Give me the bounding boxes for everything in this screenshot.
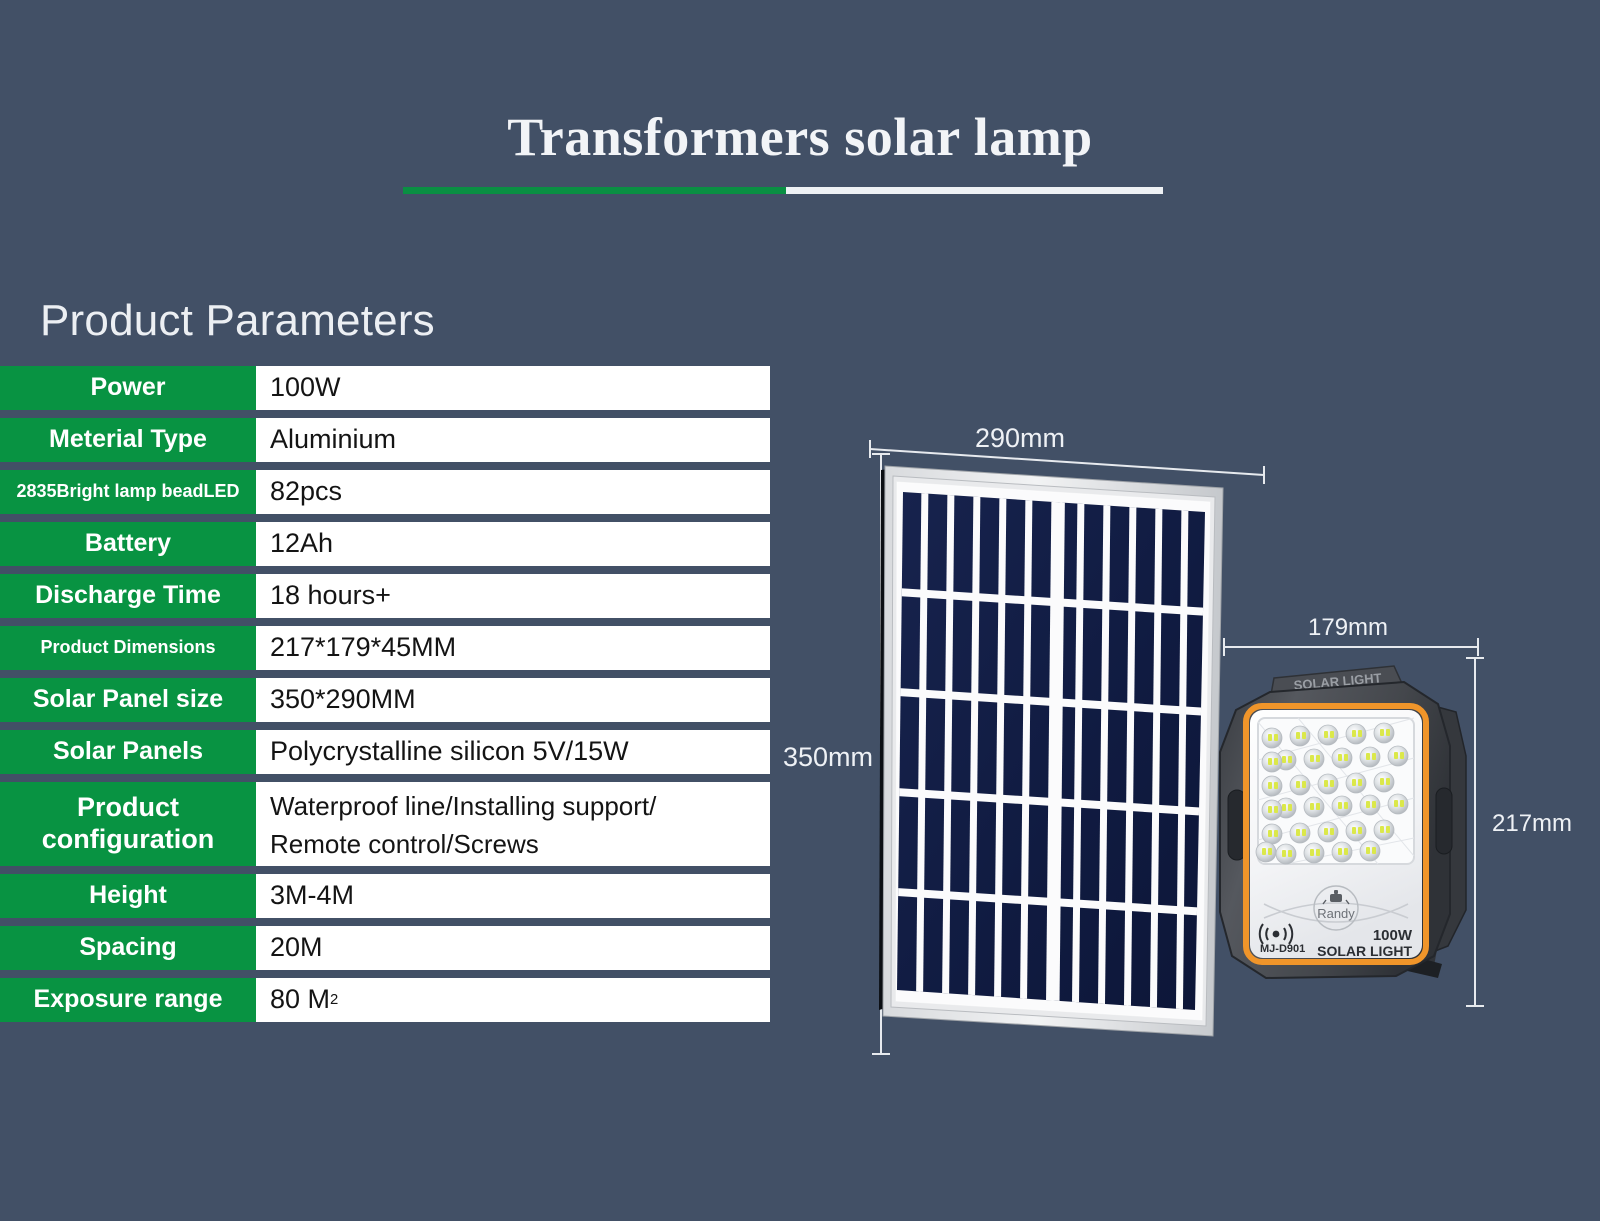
solar-panel-illustration [875, 450, 1235, 1070]
param-label: 2835Bright lamp beadLED [0, 470, 256, 514]
section-heading: Product Parameters [40, 296, 435, 346]
param-label: Discharge Time [0, 574, 256, 618]
param-label: Power [0, 366, 256, 410]
param-value: Aluminium [256, 418, 770, 462]
param-value: 350*290MM [256, 678, 770, 722]
param-value-number: 80 M [270, 984, 330, 1015]
param-value: Polycrystalline silicon 5V/15W [256, 730, 770, 774]
param-value: 12Ah [256, 522, 770, 566]
param-value-line1: Waterproof line/Installing support/ [270, 787, 770, 825]
table-row: Exposure range 80 M2 [0, 978, 770, 1022]
param-label: Spacing [0, 926, 256, 970]
floodlight-illustration: SOLAR LIGHT [1198, 660, 1488, 1000]
param-label: Solar Panel size [0, 678, 256, 722]
title-underline-green [403, 187, 786, 194]
param-label: Exposure range [0, 978, 256, 1022]
table-row: Power 100W [0, 366, 770, 410]
param-value: 3M-4M [256, 874, 770, 918]
param-label: Product Dimensions [0, 626, 256, 670]
table-row: Spacing 20M [0, 926, 770, 970]
product-spec-page: Transformers solar lamp Product Paramete… [0, 0, 1600, 1221]
solar-panel-height-label: 350mm [783, 742, 873, 773]
param-value: 217*179*45MM [256, 626, 770, 670]
lamp-product-text: SOLAR LIGHT [1317, 943, 1412, 959]
param-label: Battery [0, 522, 256, 566]
table-row: 2835Bright lamp beadLED 82pcs [0, 470, 770, 514]
param-value: Waterproof line/Installing support/ Remo… [256, 782, 770, 866]
param-value: 80 M2 [256, 978, 770, 1022]
lamp-width-label: 179mm [1308, 614, 1388, 642]
param-value: 100W [256, 366, 770, 410]
product-parameters-table: Power 100W Meterial Type Aluminium 2835B… [0, 366, 770, 1030]
table-row: Solar Panel size 350*290MM [0, 678, 770, 722]
title-underline-white [786, 187, 1163, 194]
table-row: Discharge Time 18 hours+ [0, 574, 770, 618]
param-label: Solar Panels [0, 730, 256, 774]
table-row: Solar Panels Polycrystalline silicon 5V/… [0, 730, 770, 774]
table-row: Product configuration Waterproof line/In… [0, 782, 770, 866]
param-value: 20M [256, 926, 770, 970]
param-value: 82pcs [256, 470, 770, 514]
table-row: Battery 12Ah [0, 522, 770, 566]
param-value-line2: Remote control/Screws [270, 825, 770, 863]
param-label: Height [0, 874, 256, 918]
table-row: Height 3M-4M [0, 874, 770, 918]
brand-name: Randy [1317, 906, 1355, 921]
lamp-model-text: MJ-D901 [1260, 943, 1305, 955]
param-label: Product configuration [0, 782, 256, 866]
param-value: 18 hours+ [256, 574, 770, 618]
lamp-height-label: 217mm [1492, 810, 1572, 838]
param-label: Meterial Type [0, 418, 256, 462]
table-row: Meterial Type Aluminium [0, 418, 770, 462]
lamp-wattage-text: 100W [1373, 927, 1413, 944]
page-title: Transformers solar lamp [0, 106, 1600, 168]
table-row: Product Dimensions 217*179*45MM [0, 626, 770, 670]
